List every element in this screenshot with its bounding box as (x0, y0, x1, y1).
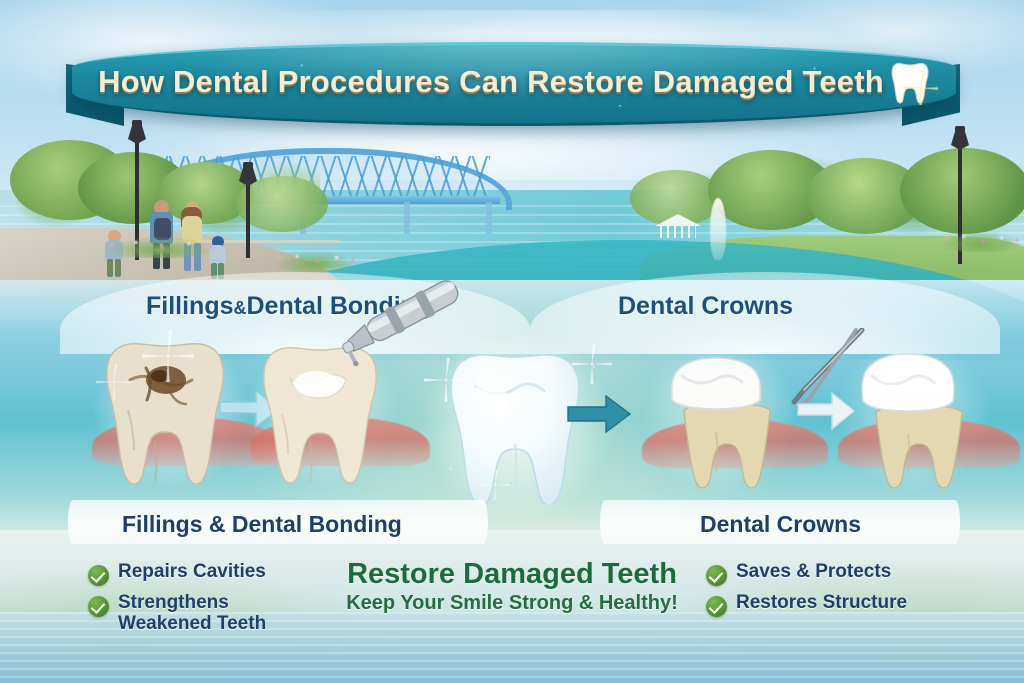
section-label-fillings: Fillings & Dental Bonding (122, 511, 402, 538)
crowned-tooth-icon (842, 346, 974, 488)
tooth-icon (890, 61, 930, 107)
list-item-label: Saves & Protects (736, 562, 891, 583)
callout-headline: Restore Damaged Teeth (312, 558, 712, 591)
banner-title-row: How Dental Procedures Can Restore Damage… (72, 43, 956, 121)
center-callout: Restore Damaged Teeth Keep Your Smile St… (312, 558, 712, 615)
list-item-label: Restores Structure (736, 593, 907, 614)
lamp-post-icon (246, 182, 250, 258)
list-item: Strengthens Weakened Teeth (88, 593, 288, 634)
check-circle-icon (88, 565, 109, 586)
fountain-icon (710, 198, 726, 260)
list-item-label: Repairs Cavities (118, 562, 266, 583)
benefits-list-fillings: Repairs Cavities Strengthens Weakened Te… (88, 562, 288, 641)
sparkle-icon (904, 71, 938, 105)
arrow-right-icon (566, 392, 632, 441)
section-label-crowns: Dental Crowns (700, 511, 861, 538)
benefits-list-crowns: Saves & Protects Restores Structure (706, 562, 907, 624)
flower-bed-center (270, 246, 360, 272)
list-item: Saves & Protects (706, 562, 907, 586)
gazebo-icon (655, 214, 701, 238)
title-banner: How Dental Procedures Can Restore Damage… (0, 20, 1024, 125)
infographic-canvas: How Dental Procedures Can Restore Damage… (0, 0, 1024, 683)
list-item: Restores Structure (706, 593, 907, 617)
ampersand: & (234, 298, 247, 318)
callout-subheadline: Keep Your Smile Strong & Healthy! (312, 592, 712, 615)
section-heading-crowns: Dental Crowns (618, 292, 793, 321)
page-title: How Dental Procedures Can Restore Damage… (98, 64, 884, 100)
list-item: Repairs Cavities (88, 562, 288, 586)
flower-bed-right (938, 226, 1024, 252)
flower-bed-left (100, 232, 220, 258)
decayed-tooth-icon (100, 340, 230, 490)
list-item-label: Strengthens Weakened Teeth (118, 593, 288, 634)
check-circle-icon (88, 596, 109, 617)
banner-body: How Dental Procedures Can Restore Damage… (72, 42, 956, 126)
